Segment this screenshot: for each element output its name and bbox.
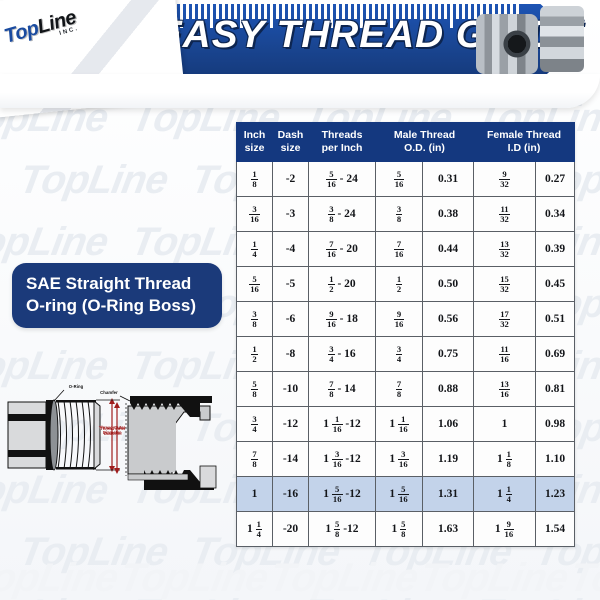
- th-inch-size-l2: size: [245, 142, 265, 154]
- cell-female-id-fraction: 1116: [474, 337, 536, 372]
- cell-threads-per-inch: 716 - 20: [309, 232, 376, 267]
- thread-inner-diameter-dimension: [114, 402, 120, 474]
- thread-inner-diameter-label: Thread Inner Diameter: [96, 426, 130, 437]
- th-male-l1: Male Thread: [394, 129, 455, 141]
- cell-female-id-decimal: 0.27: [536, 162, 575, 197]
- chamfer-leader-line: [120, 396, 130, 401]
- cell-inch-size: 58: [237, 372, 273, 407]
- thread-spec-table: Inch size Dash size Threads per Inch Mal…: [236, 122, 575, 547]
- table-row[interactable]: 38-6916 - 189160.5617320.51: [237, 302, 575, 337]
- table-row[interactable]: 316-338 - 24380.3811320.34: [237, 197, 575, 232]
- cell-dash-size: -3: [273, 197, 309, 232]
- cell-threads-per-inch: 34 - 16: [309, 337, 376, 372]
- cell-female-id-decimal: 0.45: [536, 267, 575, 302]
- cell-male-od-fraction: 78: [376, 372, 423, 407]
- cell-inch-size: 12: [237, 337, 273, 372]
- cell-inch-size: 316: [237, 197, 273, 232]
- cell-inch-size: 1: [237, 477, 273, 512]
- th-dash-size-l1: Dash: [278, 129, 304, 141]
- footer-watermark-text: TopLine: [566, 556, 600, 600]
- cell-male-od-decimal: 0.75: [423, 337, 474, 372]
- cell-male-od-fraction: 34: [376, 337, 423, 372]
- cell-female-id-decimal: 0.69: [536, 337, 575, 372]
- table-body: 18-2516 - 245160.319320.27316-338 - 2438…: [237, 162, 575, 547]
- cell-threads-per-inch: 1 516 -12: [309, 477, 376, 512]
- cell-threads-per-inch: 1 316 -12: [309, 442, 376, 477]
- cell-female-id-decimal: 0.81: [536, 372, 575, 407]
- table-row[interactable]: 58-1078 - 14780.8813160.81: [237, 372, 575, 407]
- cell-inch-size: 18: [237, 162, 273, 197]
- cell-dash-size: -5: [273, 267, 309, 302]
- cell-female-id-fraction: 1532: [474, 267, 536, 302]
- male-fitting-drawing: [8, 400, 100, 470]
- cell-male-od-decimal: 0.56: [423, 302, 474, 337]
- table-header-row: Inch size Dash size Threads per Inch Mal…: [237, 123, 575, 162]
- cell-threads-per-inch: 78 - 14: [309, 372, 376, 407]
- cell-male-od-fraction: 716: [376, 232, 423, 267]
- th-inch-size: Inch size: [237, 123, 273, 162]
- table-header: Inch size Dash size Threads per Inch Mal…: [237, 123, 575, 162]
- table-row[interactable]: 516-512 - 20120.5015320.45: [237, 267, 575, 302]
- cell-male-od-fraction: 1 58: [376, 512, 423, 547]
- cell-female-id-fraction: 1732: [474, 302, 536, 337]
- left-panel: SAE Straight Thread O-ring (O-Ring Boss): [0, 108, 232, 568]
- th-dash-size: Dash size: [273, 123, 309, 162]
- cell-female-id-fraction: 1132: [474, 197, 536, 232]
- cell-male-od-decimal: 0.88: [423, 372, 474, 407]
- table-row[interactable]: 12-834 - 16340.7511160.69: [237, 337, 575, 372]
- page-title-plate: SAE Straight Thread O-ring (O-Ring Boss): [12, 263, 222, 328]
- th-female-l1: Female Thread: [487, 129, 561, 141]
- cell-female-id-fraction: 1: [474, 407, 536, 442]
- cell-threads-per-inch: 38 - 24: [309, 197, 376, 232]
- cell-dash-size: -14: [273, 442, 309, 477]
- cell-threads-per-inch: 916 - 18: [309, 302, 376, 337]
- cell-inch-size: 1 14: [237, 512, 273, 547]
- cell-dash-size: -4: [273, 232, 309, 267]
- cell-female-id-fraction: 1 916: [474, 512, 536, 547]
- hydraulic-fitting-photo: [476, 14, 538, 74]
- th-threads-l2: per Inch: [322, 142, 363, 154]
- table-row[interactable]: 34-121 116 -121 1161.0610.98: [237, 407, 575, 442]
- cell-female-id-decimal: 1.10: [536, 442, 575, 477]
- cell-female-id-fraction: 1332: [474, 232, 536, 267]
- cell-dash-size: -20: [273, 512, 309, 547]
- cell-female-id-decimal: 1.23: [536, 477, 575, 512]
- th-female-l2: I.D (in): [508, 142, 541, 154]
- cell-male-od-fraction: 1 116: [376, 407, 423, 442]
- cell-female-id-fraction: 932: [474, 162, 536, 197]
- sae-oring-boss-cross-section-diagram: O-Ring Chamfer Thread Outer Diameter: [4, 370, 232, 510]
- female-port-drawing: [128, 396, 216, 490]
- th-male-thread-od: Male Thread O.D. (in): [376, 123, 474, 162]
- cell-dash-size: -16: [273, 477, 309, 512]
- cell-male-od-decimal: 0.31: [423, 162, 474, 197]
- easy-thread-guide-page: TopLineTopLineTopLineTopLineTopLineTopLi…: [0, 0, 600, 600]
- cell-male-od-fraction: 1 516: [376, 477, 423, 512]
- oring-leader-line: [54, 390, 64, 401]
- footer-watermark-text: TopLine: [416, 556, 571, 600]
- cell-dash-size: -12: [273, 407, 309, 442]
- cell-inch-size: 38: [237, 302, 273, 337]
- table-row[interactable]: 14-4716 - 207160.4413320.39: [237, 232, 575, 267]
- oring-label: O-Ring: [62, 384, 90, 389]
- header-banner: EASY THREAD GUIDE TopLine INC.: [0, 0, 600, 100]
- th-dash-size-l2: size: [281, 142, 301, 154]
- cell-female-id-fraction: 1 14: [474, 477, 536, 512]
- thread-spec-table-container: Inch size Dash size Threads per Inch Mal…: [236, 122, 574, 547]
- cell-female-id-decimal: 0.39: [536, 232, 575, 267]
- cell-male-od-decimal: 1.19: [423, 442, 474, 477]
- cell-threads-per-inch: 1 116 -12: [309, 407, 376, 442]
- cell-male-od-decimal: 1.63: [423, 512, 474, 547]
- cell-female-id-fraction: 1 18: [474, 442, 536, 477]
- cell-dash-size: -6: [273, 302, 309, 337]
- cell-threads-per-inch: 12 - 20: [309, 267, 376, 302]
- cell-female-id-decimal: 1.54: [536, 512, 575, 547]
- th-male-l2: O.D. (in): [404, 142, 445, 154]
- cell-male-od-decimal: 0.38: [423, 197, 474, 232]
- cell-male-od-fraction: 12: [376, 267, 423, 302]
- jic-flare-nut-photo: [540, 6, 584, 72]
- chamfer-label: Chamfer: [94, 390, 124, 395]
- cell-dash-size: -8: [273, 337, 309, 372]
- cell-dash-size: -2: [273, 162, 309, 197]
- table-row[interactable]: 18-2516 - 245160.319320.27: [237, 162, 575, 197]
- cell-inch-size: 34: [237, 407, 273, 442]
- page-title-line-2: O-ring (O-Ring Boss): [26, 295, 210, 317]
- cell-male-od-decimal: 1.06: [423, 407, 474, 442]
- th-threads-l1: Threads: [322, 129, 363, 141]
- cell-male-od-decimal: 0.44: [423, 232, 474, 267]
- table-row[interactable]: 1 14-201 58 -121 581.631 9161.54: [237, 512, 575, 547]
- th-inch-size-l1: Inch: [244, 129, 266, 141]
- cell-threads-per-inch: 1 58 -12: [309, 512, 376, 547]
- table-row[interactable]: 78-141 316 -121 3161.191 181.10: [237, 442, 575, 477]
- th-threads-per-inch: Threads per Inch: [309, 123, 376, 162]
- cell-female-id-fraction: 1316: [474, 372, 536, 407]
- footer-watermark-text: TopLine: [266, 556, 421, 600]
- cell-male-od-decimal: 1.31: [423, 477, 474, 512]
- cell-male-od-fraction: 516: [376, 162, 423, 197]
- cell-male-od-decimal: 0.50: [423, 267, 474, 302]
- cell-threads-per-inch: 516 - 24: [309, 162, 376, 197]
- cell-female-id-decimal: 0.34: [536, 197, 575, 232]
- cell-male-od-fraction: 1 316: [376, 442, 423, 477]
- cell-female-id-decimal: 0.51: [536, 302, 575, 337]
- cell-dash-size: -10: [273, 372, 309, 407]
- cell-male-od-fraction: 38: [376, 197, 423, 232]
- table-row[interactable]: 1-161 516 -121 5161.311 141.23: [237, 477, 575, 512]
- cell-inch-size: 516: [237, 267, 273, 302]
- page-title-line-1: SAE Straight Thread: [26, 273, 210, 295]
- cell-female-id-decimal: 0.98: [536, 407, 575, 442]
- cell-male-od-fraction: 916: [376, 302, 423, 337]
- th-female-thread-id: Female Thread I.D (in): [474, 123, 575, 162]
- cell-inch-size: 14: [237, 232, 273, 267]
- cell-inch-size: 78: [237, 442, 273, 477]
